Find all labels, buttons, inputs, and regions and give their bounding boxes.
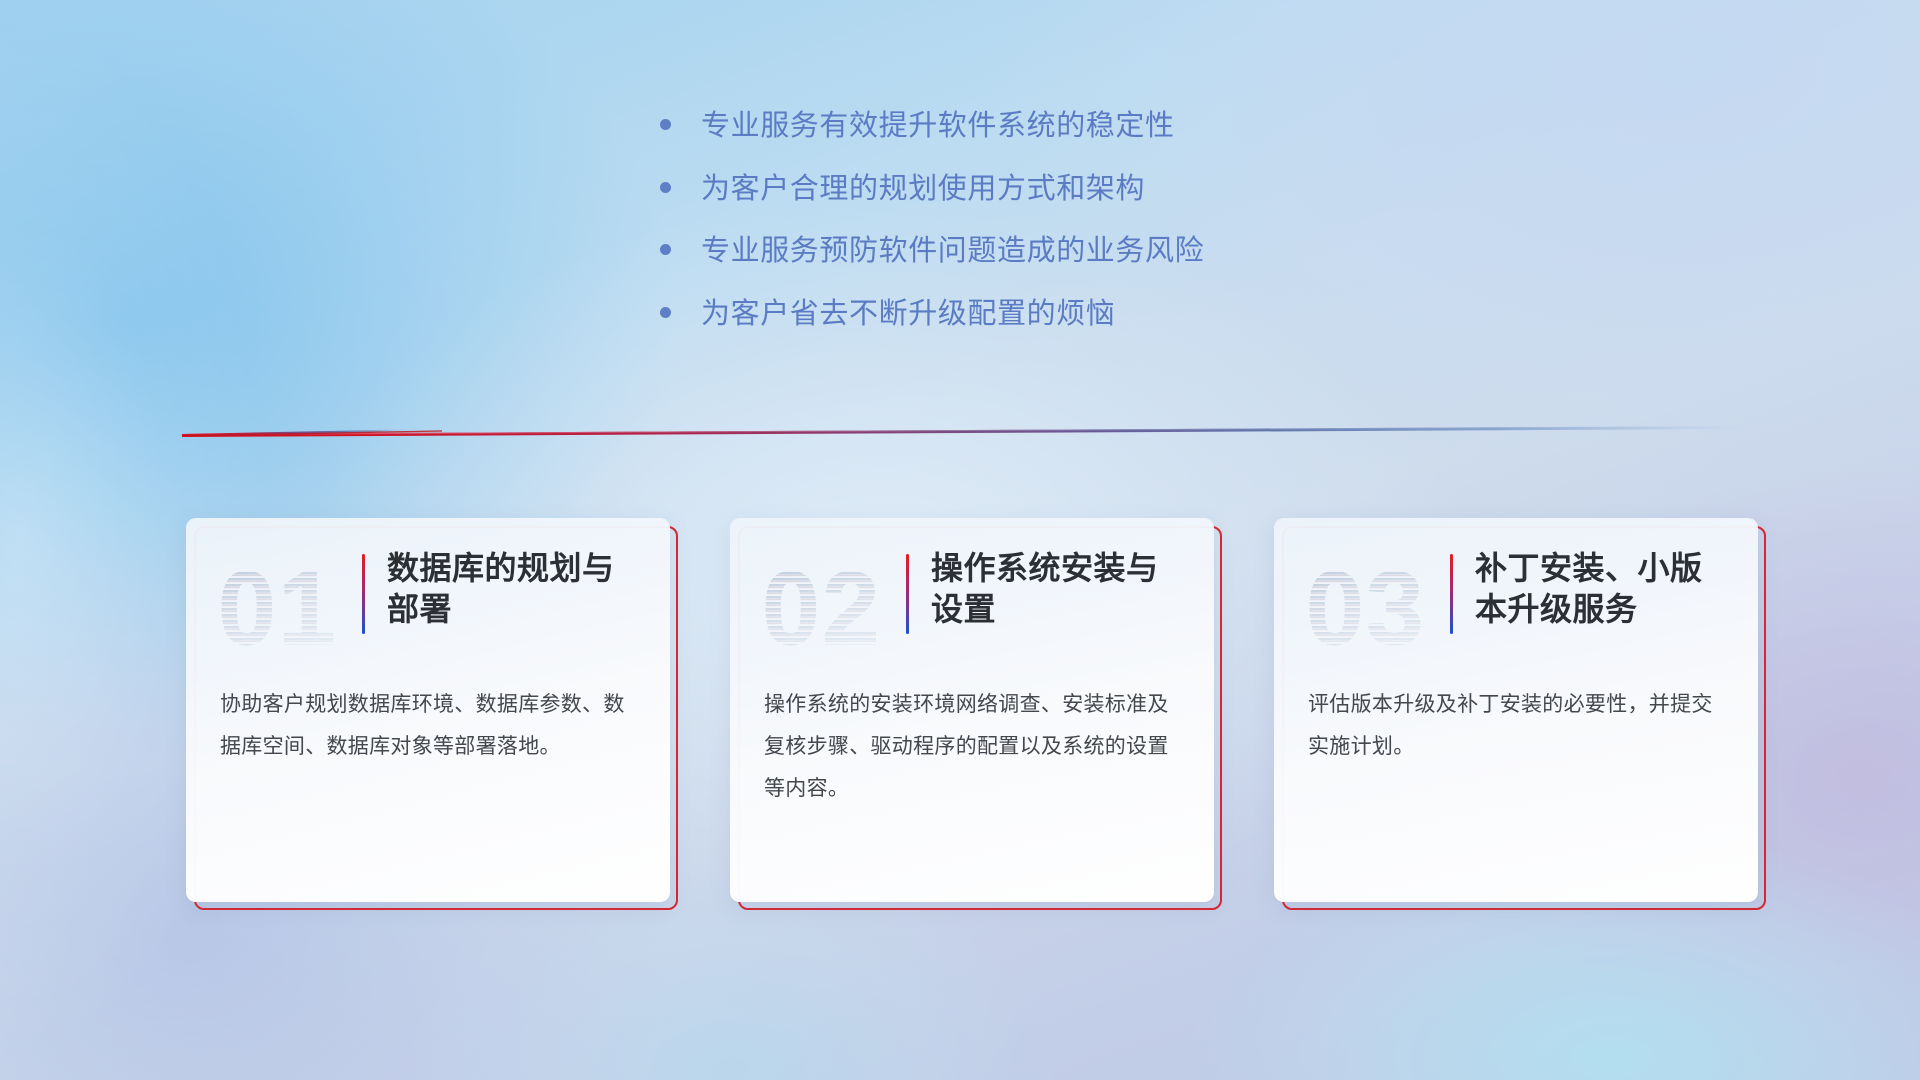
svg-text:01: 01 [218, 551, 338, 660]
bullet-dot-icon [660, 119, 671, 130]
card-header: 03 补丁安装、小版本升级服务 [1274, 518, 1758, 680]
card-number-striped-icon: 03 [1304, 548, 1450, 660]
card-number-striped-icon: 01 [216, 548, 362, 660]
section-divider [182, 420, 1748, 442]
list-item: 为客户省去不断升级配置的烦恼 [660, 296, 1420, 333]
bullet-text: 专业服务有效提升软件系统的稳定性 [701, 108, 1175, 145]
list-item: 专业服务有效提升软件系统的稳定性 [660, 108, 1420, 145]
card-title: 补丁安装、小版本升级服务 [1475, 544, 1732, 630]
card-surface: 03 补丁安装、小版本升级服务 评估版本升级及补丁安装的必要性，并提交实施计划。 [1274, 518, 1758, 902]
card-surface: 01 数据库的规划与部署 协助客户规划数据库环境、数据库参数、数据库空间、数据库… [186, 518, 670, 902]
bullet-dot-icon [660, 307, 671, 318]
service-card[interactable]: 03 补丁安装、小版本升级服务 评估版本升级及补丁安装的必要性，并提交实施计划。 [1274, 518, 1758, 902]
svg-text:02: 02 [762, 551, 882, 660]
service-card[interactable]: 01 数据库的规划与部署 协助客户规划数据库环境、数据库参数、数据库空间、数据库… [186, 518, 670, 902]
benefits-bullet-list: 专业服务有效提升软件系统的稳定性 为客户合理的规划使用方式和架构 专业服务预防软… [660, 108, 1420, 358]
bullet-text: 为客户合理的规划使用方式和架构 [701, 171, 1145, 208]
service-card[interactable]: 02 操作系统安装与设置 操作系统的安装环境网络调查、安装标准及复核步骤、驱动程… [730, 518, 1214, 902]
card-number-striped-icon: 02 [760, 548, 906, 660]
service-card-row: 01 数据库的规划与部署 协助客户规划数据库环境、数据库参数、数据库空间、数据库… [186, 518, 1758, 902]
card-description: 协助客户规划数据库环境、数据库参数、数据库空间、数据库对象等部署落地。 [186, 680, 670, 768]
card-title: 操作系统安装与设置 [931, 544, 1188, 630]
bullet-dot-icon [660, 244, 671, 255]
card-header: 01 数据库的规划与部署 [186, 518, 670, 680]
card-title-accent-bar [362, 554, 365, 634]
card-description: 评估版本升级及补丁安装的必要性，并提交实施计划。 [1274, 680, 1758, 768]
slide-canvas: 专业服务有效提升软件系统的稳定性 为客户合理的规划使用方式和架构 专业服务预防软… [0, 0, 1920, 1080]
bullet-dot-icon [660, 182, 671, 193]
list-item: 专业服务预防软件问题造成的业务风险 [660, 233, 1420, 270]
card-title: 数据库的规划与部署 [387, 544, 644, 630]
list-item: 为客户合理的规划使用方式和架构 [660, 171, 1420, 208]
card-description: 操作系统的安装环境网络调查、安装标准及复核步骤、驱动程序的配置以及系统的设置等内… [730, 680, 1214, 810]
card-surface: 02 操作系统安装与设置 操作系统的安装环境网络调查、安装标准及复核步骤、驱动程… [730, 518, 1214, 902]
bullet-text: 专业服务预防软件问题造成的业务风险 [701, 233, 1204, 270]
bullet-text: 为客户省去不断升级配置的烦恼 [701, 296, 1115, 333]
card-title-accent-bar [906, 554, 909, 634]
card-header: 02 操作系统安装与设置 [730, 518, 1214, 680]
svg-text:03: 03 [1306, 551, 1426, 660]
card-title-accent-bar [1450, 554, 1453, 634]
